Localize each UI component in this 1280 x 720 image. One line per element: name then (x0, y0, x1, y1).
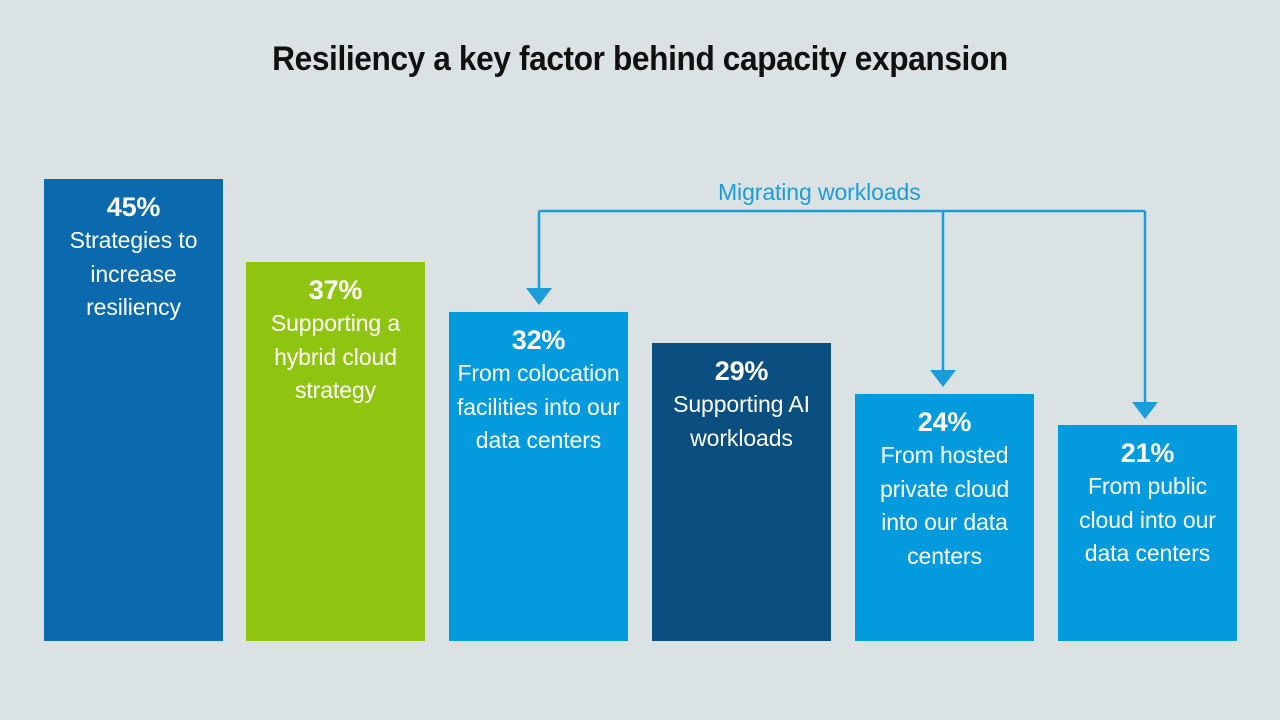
arrowhead-left (526, 288, 552, 305)
bar-5: 24%From hosted private cloud into our da… (855, 394, 1034, 641)
bar-2: 37%Supporting a hybrid cloud strategy (246, 262, 425, 641)
bar-3: 32%From colocation facilities into our d… (449, 312, 628, 641)
page-title: Resiliency a key factor behind capacity … (45, 40, 1235, 79)
bar-6: 21%From public cloud into our data cente… (1058, 425, 1237, 641)
bar-value-label: 45% (44, 191, 223, 224)
bar-category-label: From colocation facilities into our data… (449, 357, 628, 458)
bar-value-label: 21% (1058, 437, 1237, 470)
bar-value-label: 24% (855, 406, 1034, 439)
bar-1: 45%Strategies to increase resiliency (44, 179, 223, 641)
arrowhead-right (1132, 402, 1158, 419)
bar-category-label: Supporting AI workloads (652, 388, 831, 455)
bar-value-label: 32% (449, 324, 628, 357)
bar-category-label: Supporting a hybrid cloud strategy (246, 307, 425, 408)
bar-value-label: 29% (652, 355, 831, 388)
bar-4: 29%Supporting AI workloads (652, 343, 831, 641)
infographic-chart: Resiliency a key factor behind capacity … (0, 0, 1280, 720)
annotation-label-migrating-workloads: Migrating workloads (718, 179, 921, 206)
arrowhead-middle (930, 370, 956, 387)
bar-category-label: From hosted private cloud into our data … (855, 439, 1034, 573)
bar-value-label: 37% (246, 274, 425, 307)
bar-category-label: From public cloud into our data centers (1058, 470, 1237, 571)
bar-category-label: Strategies to increase resiliency (44, 224, 223, 325)
